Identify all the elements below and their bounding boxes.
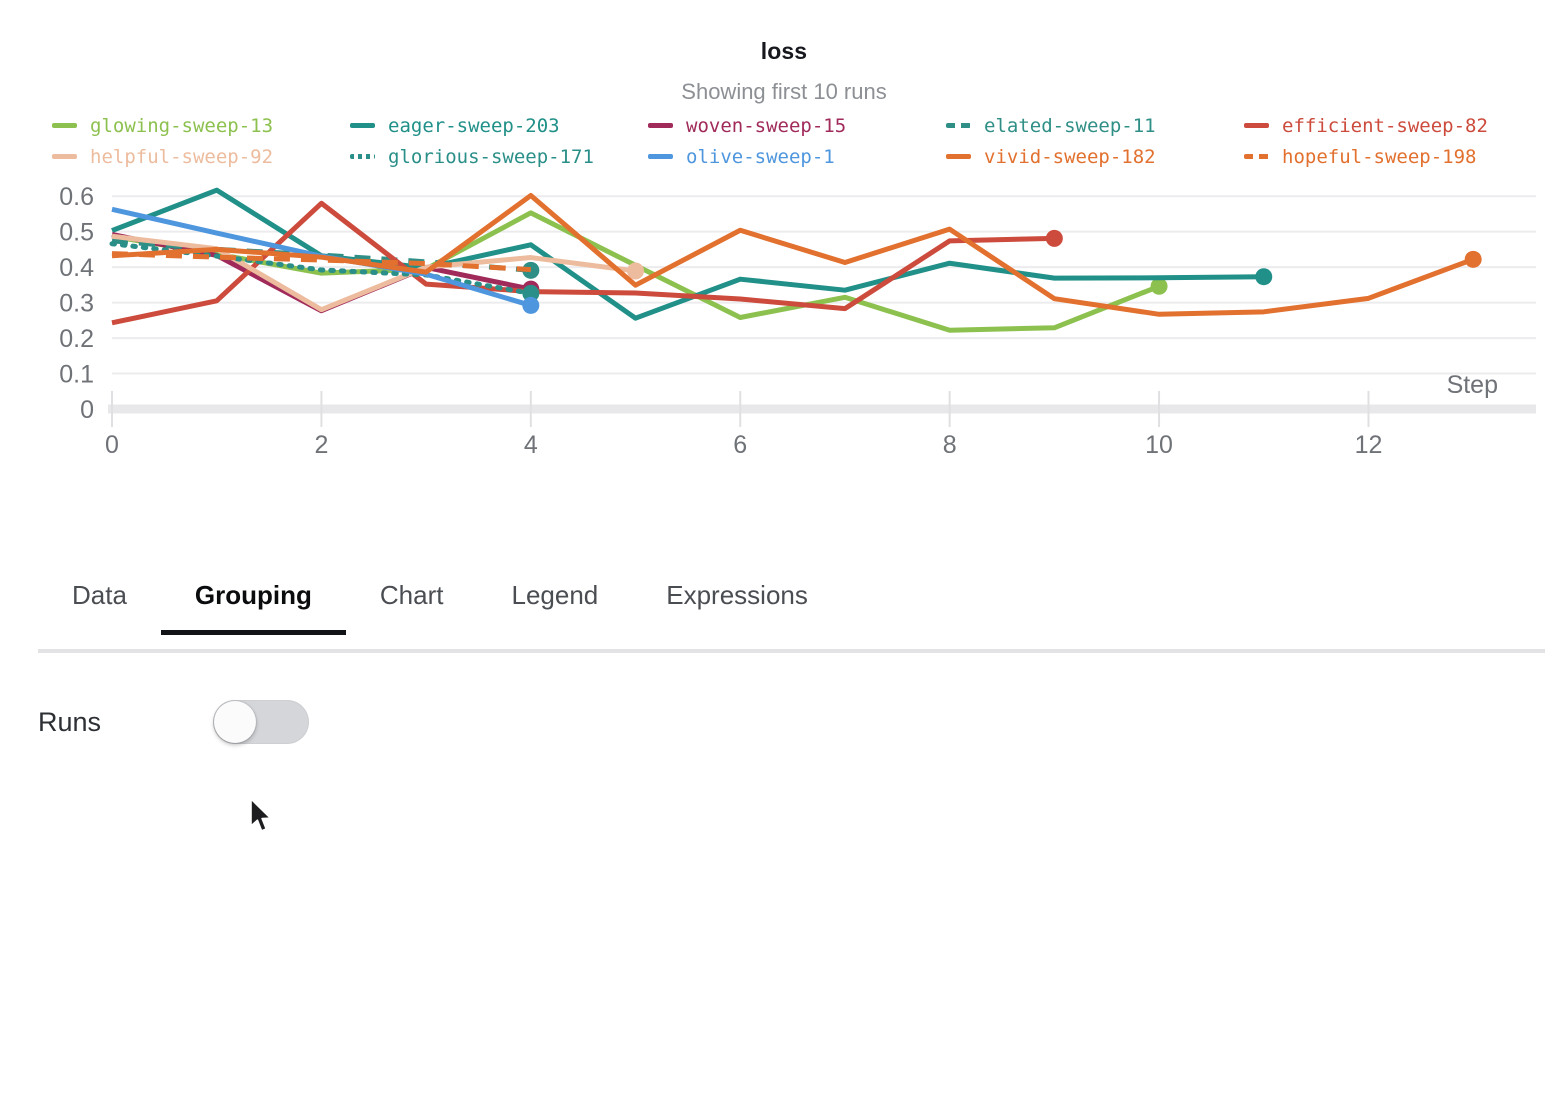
legend-color-swatch	[648, 123, 673, 128]
runs-grouping-row: Runs	[38, 690, 1538, 754]
svg-text:0: 0	[80, 396, 94, 424]
legend-item[interactable]: glorious-sweep-171	[350, 141, 648, 172]
y-gridlines	[112, 196, 1536, 373]
line-chart-svg[interactable]: 00.10.20.30.40.50.6024681012Step	[0, 170, 1568, 460]
series-endpoint-dot[interactable]	[1465, 251, 1482, 268]
legend-color-swatch	[350, 154, 375, 159]
runs-label: Runs	[38, 707, 213, 738]
legend-item-label: glowing-sweep-13	[90, 115, 273, 137]
plot-area[interactable]: 00.10.20.30.40.50.6024681012Step	[0, 170, 1568, 460]
svg-text:0.4: 0.4	[59, 254, 94, 282]
tab-label: Chart	[380, 580, 444, 610]
chart-legend: glowing-sweep-13eager-sweep-203woven-swe…	[52, 110, 1542, 172]
svg-text:0.2: 0.2	[59, 325, 94, 353]
legend-color-swatch	[648, 154, 673, 159]
x-tick-labels: 024681012	[105, 431, 1382, 459]
series-endpoint-dot[interactable]	[522, 297, 539, 314]
legend-item[interactable]: hopeful-sweep-198	[1244, 141, 1542, 172]
legend-item[interactable]: vivid-sweep-182	[946, 141, 1244, 172]
chart-title: loss	[0, 38, 1568, 65]
chart-subtitle: Showing first 10 runs	[0, 79, 1568, 105]
svg-text:4: 4	[524, 431, 538, 459]
y-tick-labels: 00.10.20.30.40.50.6	[59, 183, 94, 424]
tab-label: Data	[72, 580, 127, 610]
legend-item[interactable]: elated-sweep-11	[946, 110, 1244, 141]
svg-text:12: 12	[1355, 431, 1383, 459]
runs-group-toggle[interactable]	[213, 700, 309, 744]
legend-item-label: eager-sweep-203	[388, 115, 560, 137]
legend-item[interactable]: woven-sweep-15	[648, 110, 946, 141]
tab-label: Grouping	[195, 580, 312, 610]
svg-text:0.3: 0.3	[59, 290, 94, 318]
legend-color-swatch	[350, 123, 375, 128]
chart-panel: loss Showing first 10 runs glowing-sweep…	[0, 0, 1568, 500]
tab-data[interactable]: Data	[38, 570, 161, 635]
legend-item[interactable]: glowing-sweep-13	[52, 110, 350, 141]
tab-expressions[interactable]: Expressions	[632, 570, 842, 635]
legend-item-label: glorious-sweep-171	[388, 146, 594, 168]
tab-legend[interactable]: Legend	[477, 570, 632, 635]
series-line[interactable]	[112, 195, 1473, 314]
legend-item-label: hopeful-sweep-198	[1282, 146, 1476, 168]
tab-label: Expressions	[666, 580, 808, 610]
legend-item[interactable]: olive-sweep-1	[648, 141, 946, 172]
legend-color-swatch	[52, 154, 77, 159]
legend-item-label: woven-sweep-15	[686, 115, 846, 137]
settings-tabs[interactable]: DataGroupingChartLegendExpressions	[38, 570, 1545, 654]
legend-color-swatch	[946, 123, 971, 128]
svg-text:0: 0	[105, 431, 119, 459]
series-endpoint-dot[interactable]	[1046, 230, 1063, 247]
svg-text:0.5: 0.5	[59, 219, 94, 247]
svg-text:0.1: 0.1	[59, 361, 94, 389]
legend-item-label: efficient-sweep-82	[1282, 115, 1488, 137]
tab-grouping[interactable]: Grouping	[161, 570, 346, 635]
legend-color-swatch	[1244, 154, 1269, 159]
legend-item-label: elated-sweep-11	[984, 115, 1156, 137]
svg-text:6: 6	[733, 431, 747, 459]
toggle-knob	[214, 701, 256, 743]
svg-text:0.6: 0.6	[59, 183, 94, 211]
tab-label: Legend	[511, 580, 598, 610]
legend-item-label: vivid-sweep-182	[984, 146, 1156, 168]
svg-text:8: 8	[943, 431, 957, 459]
legend-item-label: olive-sweep-1	[686, 146, 835, 168]
grouping-panel: Runs	[38, 690, 1538, 890]
svg-text:2: 2	[314, 431, 328, 459]
series-endpoint-dot[interactable]	[1151, 278, 1168, 295]
svg-text:10: 10	[1145, 431, 1173, 459]
legend-color-swatch	[1244, 123, 1269, 128]
x-axis-label: Step	[1447, 371, 1498, 399]
tabs-divider	[38, 649, 1545, 653]
legend-color-swatch	[946, 154, 971, 159]
legend-item[interactable]: efficient-sweep-82	[1244, 110, 1542, 141]
series-endpoint-dot[interactable]	[1255, 268, 1272, 285]
legend-item-label: helpful-sweep-92	[90, 146, 273, 168]
legend-item[interactable]: eager-sweep-203	[350, 110, 648, 141]
legend-color-swatch	[52, 123, 77, 128]
tab-chart[interactable]: Chart	[346, 570, 478, 635]
legend-item[interactable]: helpful-sweep-92	[52, 141, 350, 172]
